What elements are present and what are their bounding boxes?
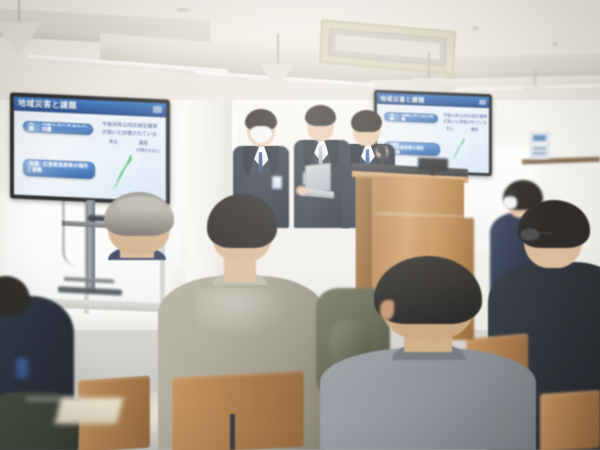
audience-right-masked-face-mask bbox=[503, 196, 517, 209]
presenter-center-hand bbox=[296, 186, 307, 195]
left-screen-panel[interactable]: 地域災害と課題 問題 地震を受け安全に大地震 今後30年以内の発生確率 が高いと… bbox=[14, 97, 166, 202]
audience-beige-top-shoulder-highlight bbox=[196, 288, 292, 338]
pendant-lamp-center-shade bbox=[260, 64, 294, 89]
pendant-lamp-center-cord bbox=[277, 34, 279, 66]
left-screen-glare bbox=[14, 126, 124, 201]
left-screen-cable bbox=[63, 200, 79, 266]
pendant-lamp-left-shade bbox=[0, 22, 42, 56]
right-slide-title: 地域災害と課題 bbox=[380, 93, 425, 104]
chair-leg-center bbox=[230, 414, 235, 450]
shelf-poster-line bbox=[533, 147, 546, 150]
presenter-left-badge bbox=[272, 176, 282, 189]
presentation-room-photo: 地域災害と課題 問題 地震を受け安全に大地震 今後30年以内の発生確率 が高いと… bbox=[0, 0, 600, 450]
left-slide-logo bbox=[153, 106, 162, 113]
shelf-poster bbox=[530, 132, 549, 159]
left-screen-bezel: 地域災害と課題 問題 地震を受け安全に大地震 今後30年以内の発生確率 が高いと… bbox=[10, 92, 170, 205]
audience-foreground-body bbox=[320, 348, 536, 450]
lectern-left-side-panel bbox=[356, 178, 372, 291]
left-slide-map-sub-right: (中間点を含む) bbox=[136, 148, 160, 154]
ac-unit-grill bbox=[335, 34, 441, 59]
audience-gray-haired-hair-highlight bbox=[116, 196, 164, 214]
ceiling-sensor-right bbox=[472, 26, 479, 31]
shelf-poster-header bbox=[533, 135, 546, 141]
right-slide-titlebar: 地域災害と課題 bbox=[377, 93, 489, 108]
audience-right-glasses-icon bbox=[520, 228, 540, 241]
cable-on-floor bbox=[26, 372, 86, 400]
pendant-lamp-left-cord bbox=[18, 0, 20, 24]
left-slide-title: 地域災害と課題 bbox=[18, 98, 77, 112]
left-slide-map-label-right: 離島 bbox=[139, 140, 148, 146]
pendant-lamp-right-cord bbox=[428, 52, 430, 80]
presenter-right-hair bbox=[351, 110, 382, 132]
lectern-monitor-stand bbox=[430, 169, 435, 175]
shelf-poster-line2 bbox=[533, 152, 546, 155]
chair-back-center bbox=[172, 371, 304, 450]
left-slide-titlebar: 地域災害と課題 bbox=[14, 97, 166, 118]
ceiling-speaker-left bbox=[176, 8, 190, 12]
right-slide-logo bbox=[479, 99, 486, 104]
audience-right-glasses-temple bbox=[538, 232, 552, 234]
right-slide-map-label-right: 離島 bbox=[471, 127, 478, 132]
paper-on-floor bbox=[55, 398, 123, 424]
audience-foreground-ear bbox=[380, 300, 394, 320]
audience-right-masked-glasses-icon bbox=[505, 190, 516, 196]
microphone-head-icon bbox=[377, 145, 386, 154]
ceiling-sensor-far-right bbox=[552, 42, 558, 46]
presenter-center-hair bbox=[305, 105, 336, 126]
chair-back-far-right bbox=[540, 390, 600, 450]
